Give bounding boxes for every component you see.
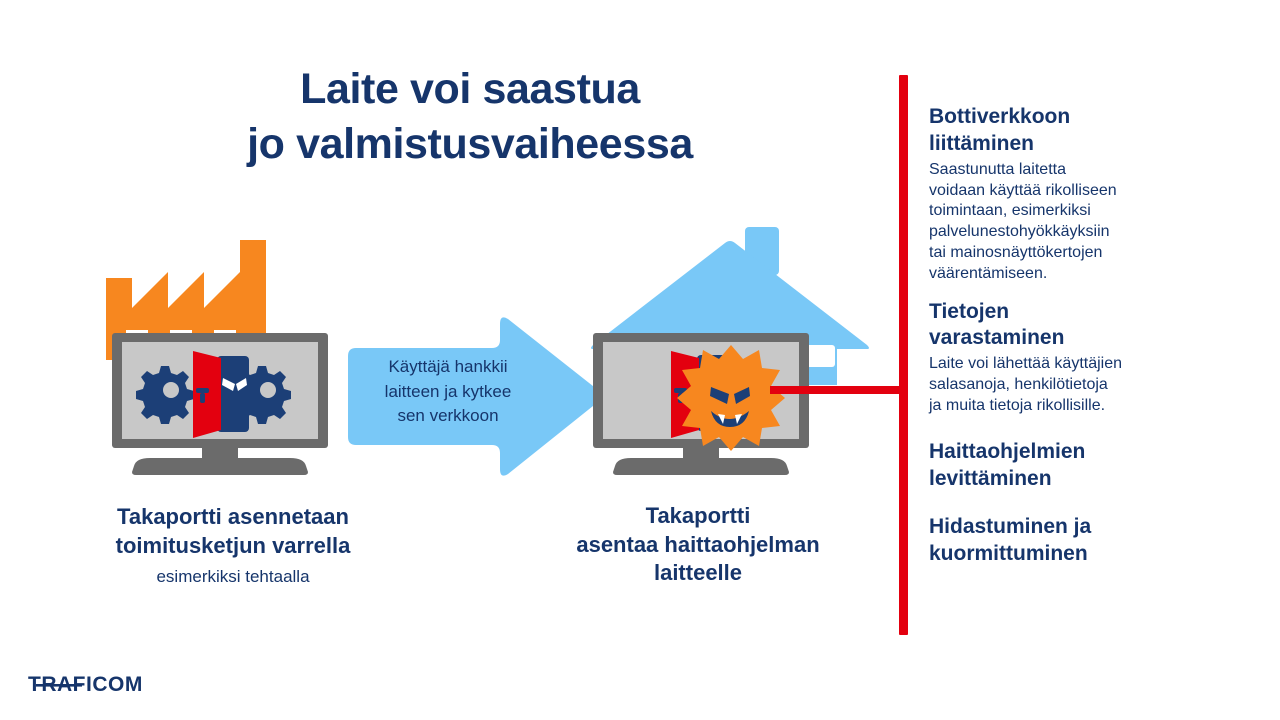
risk-list: Bottiverkkoon liittäminen Saastunutta la… <box>929 104 1204 568</box>
risk-item-body: Saastunutta laitetta voidaan käyttää rik… <box>929 160 1204 285</box>
caption-left: Takaportti asennetaan toimitusketjun var… <box>48 503 418 589</box>
left-scene-svg <box>90 220 360 475</box>
risk-item-slowdown: Hidastuminen ja kuormittuminen <box>929 514 1204 568</box>
red-door-icon <box>193 351 221 438</box>
infographic-canvas: Laite voi saastua jo valmistusvaiheessa <box>0 0 1280 720</box>
left-illustration-factory-device <box>90 220 360 475</box>
risk-item-title: Haittaohjelmien levittäminen <box>929 439 1204 493</box>
red-connector-line <box>770 386 905 394</box>
risk-item-body: Laite voi lähettää käyttäjien salasanoja… <box>929 354 1204 416</box>
right-illustration-home-device <box>575 215 880 475</box>
red-divider-line <box>899 75 908 635</box>
caption-left-sub: esimerkiksi tehtaalla <box>48 566 418 589</box>
caption-left-main: Takaportti asennetaan toimitusketjun var… <box>48 503 418 560</box>
backdoor-intruder-icon <box>217 356 249 432</box>
risk-item-malware-spread: Haittaohjelmien levittäminen <box>929 439 1204 493</box>
right-scene-svg <box>575 215 880 475</box>
risk-item-title: Bottiverkkoon liittäminen <box>929 104 1204 158</box>
risk-item-data-theft: Tietojen varastaminen Laite voi lähettää… <box>929 299 1204 417</box>
caption-right-main: Takaportti asentaa haittaohjelman laitte… <box>512 502 884 588</box>
risk-item-title: Hidastuminen ja kuormittuminen <box>929 514 1204 568</box>
caption-right: Takaportti asentaa haittaohjelman laitte… <box>512 502 884 588</box>
risk-item-title: Tietojen varastaminen <box>929 299 1204 353</box>
risk-item-botnet: Bottiverkkoon liittäminen Saastunutta la… <box>929 104 1204 285</box>
arrow-label: Käyttäjä hankkii laitteen ja kytkee sen … <box>348 355 548 429</box>
gear-icon-left <box>136 366 194 424</box>
page-title: Laite voi saastua jo valmistusvaiheessa <box>120 62 820 172</box>
traficom-logo: TRAFICOM <box>28 672 160 696</box>
traficom-logo-svg: TRAFICOM <box>28 672 160 696</box>
